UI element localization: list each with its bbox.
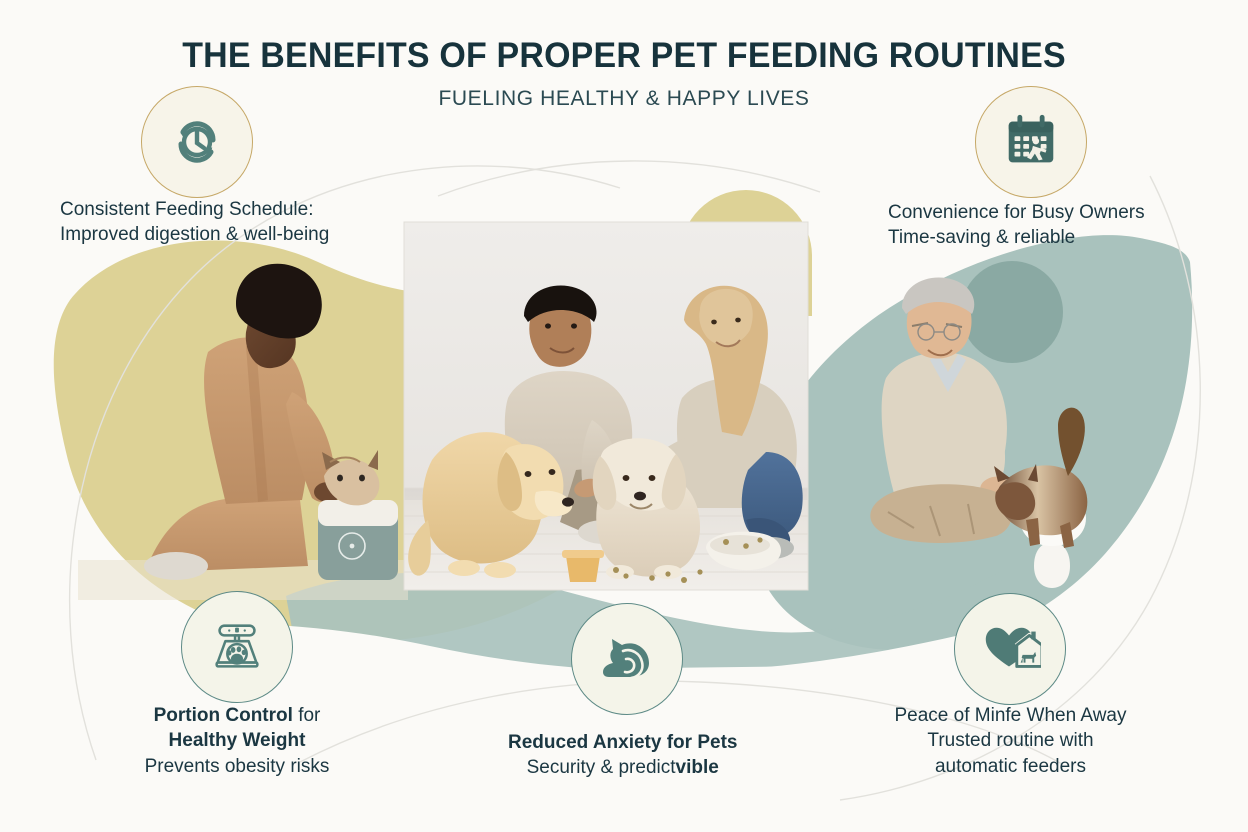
caption-line: Consistent Feeding Schedule: — [60, 197, 329, 222]
caption-line: Time-saving & reliable — [888, 225, 1145, 250]
kitchen-scale-paw-icon — [206, 616, 268, 678]
caption-peace-of-mind: Peace of Minfe When Away Trusted routine… — [884, 703, 1137, 779]
caption-line: Improved digestion & well-being — [60, 222, 329, 247]
caption-emphasis: Reduced Anxiety for Pets — [508, 730, 737, 755]
caption-line: Prevents obesity risks — [137, 754, 337, 779]
caption-emphasis-tail: vible — [676, 757, 719, 778]
page-title: THE BENEFITS OF PROPER PET FEEDING ROUTI… — [19, 36, 1230, 76]
photo-center-couple-dogs — [404, 222, 808, 590]
caption-consistent-feeding-schedule: Consistent Feeding Schedule: Improved di… — [60, 197, 329, 248]
caption-line: Portion Control for — [137, 703, 337, 728]
caption-line: Peace of Minfe When Away — [884, 703, 1137, 728]
caption-emphasis: Portion Control — [154, 705, 293, 726]
heart-house-dog-icon — [979, 618, 1041, 680]
calendar-running-person-icon — [1000, 111, 1062, 173]
badge-convenience-for-busy-owners[interactable] — [975, 86, 1087, 198]
caption-convenience-for-busy-owners: Convenience for Busy Owners Time-saving … — [888, 200, 1145, 251]
sleeping-cat-icon — [595, 627, 659, 691]
infographic-poster: THE BENEFITS OF PROPER PET FEEDING ROUTI… — [0, 0, 1248, 832]
caption-line: Trusted routine with — [884, 728, 1137, 753]
caption-portion-control: Portion Control for Healthy Weight Preve… — [137, 703, 337, 779]
caption-line: automatic feeders — [884, 754, 1137, 779]
badge-peace-of-mind[interactable] — [954, 593, 1066, 705]
caption-reduced-anxiety: Reduced Anxiety for Pets Security & pred… — [508, 730, 737, 781]
badge-consistent-feeding-schedule[interactable] — [141, 86, 253, 198]
caption-line: Security & predictvible — [508, 755, 737, 780]
clock-refresh-icon — [165, 110, 229, 174]
caption-text: Security & predict — [527, 757, 676, 778]
badge-reduced-anxiety[interactable] — [571, 603, 683, 715]
badge-portion-control[interactable] — [181, 591, 293, 703]
caption-emphasis: Healthy Weight — [137, 728, 337, 753]
caption-line: Convenience for Busy Owners — [888, 200, 1145, 225]
caption-tail: for — [293, 705, 320, 726]
blob-sage-circle — [961, 261, 1063, 363]
